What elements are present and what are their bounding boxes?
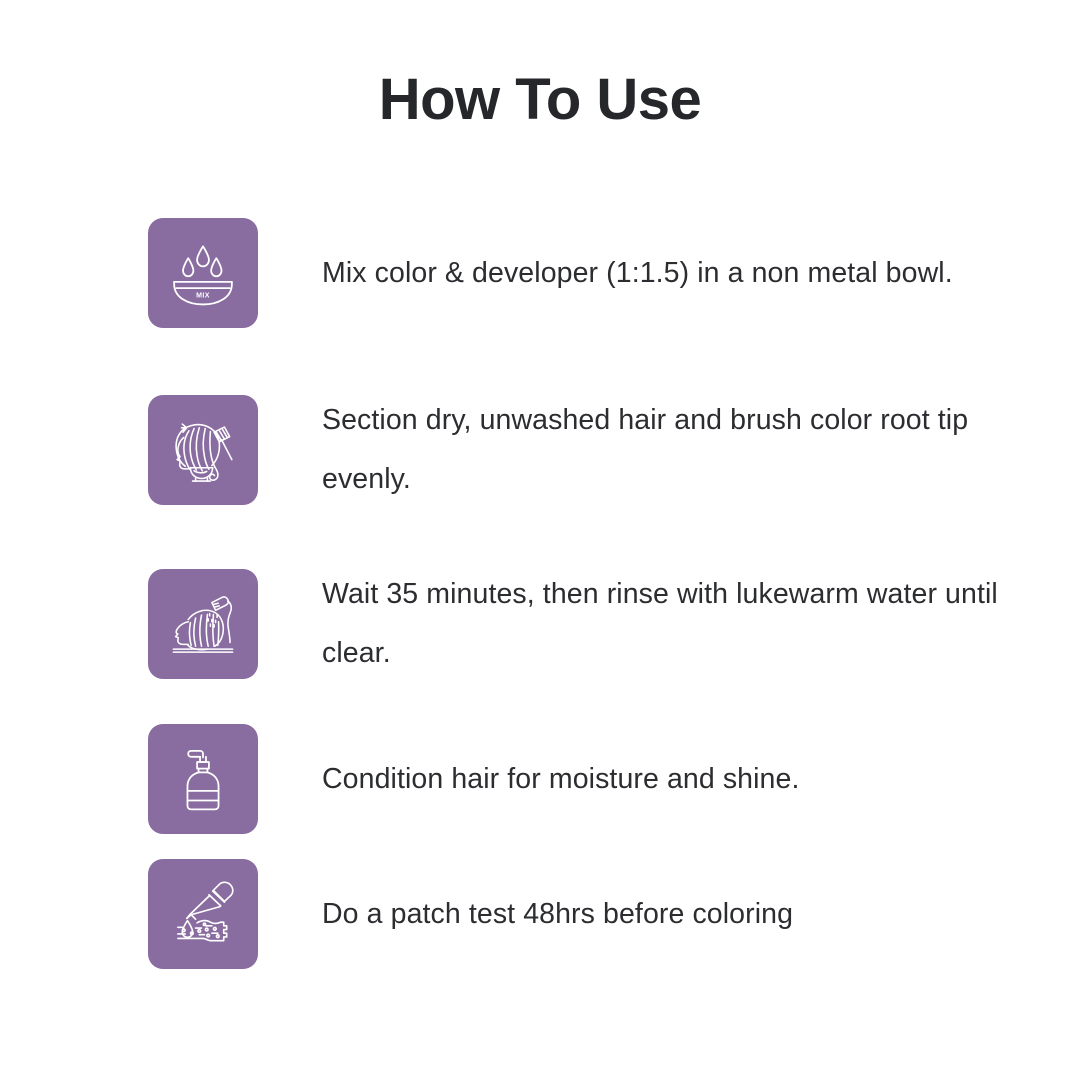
step-1-icon-tile: MIX [148, 218, 258, 328]
page-title: How To Use [0, 68, 1080, 132]
step-3-icon-tile [148, 569, 258, 679]
list-item: MIX Mix color & developer (1:1.5) in a n… [148, 218, 1048, 328]
step-5-icon-tile [148, 859, 258, 969]
mixing-bowl-drops-icon: MIX [166, 236, 240, 310]
list-item: Condition hair for moisture and shine. [148, 724, 1048, 834]
step-2-text: Section dry, unwashed hair and brush col… [322, 391, 1002, 509]
hair-section-brush-bowl-icon [166, 413, 240, 487]
step-3-text: Wait 35 minutes, then rinse with lukewar… [322, 565, 1002, 683]
mix-label-text: MIX [196, 292, 210, 299]
step-1-text: Mix color & developer (1:1.5) in a non m… [322, 244, 953, 303]
list-item: Do a patch test 48hrs before coloring [148, 859, 1048, 969]
step-4-icon-tile [148, 724, 258, 834]
step-5-text: Do a patch test 48hrs before coloring [322, 885, 793, 944]
dropper-patch-test-skin-icon [166, 877, 240, 951]
conditioner-pump-bottle-icon [166, 742, 240, 816]
how-to-use-card: How To Use [0, 0, 1080, 1080]
list-item: Section dry, unwashed hair and brush col… [148, 395, 1048, 505]
shower-rinse-hair-icon [166, 587, 240, 661]
list-item: Wait 35 minutes, then rinse with lukewar… [148, 569, 1048, 679]
steps-list: MIX Mix color & developer (1:1.5) in a n… [148, 218, 1048, 969]
step-2-icon-tile [148, 395, 258, 505]
step-4-text: Condition hair for moisture and shine. [322, 750, 799, 809]
